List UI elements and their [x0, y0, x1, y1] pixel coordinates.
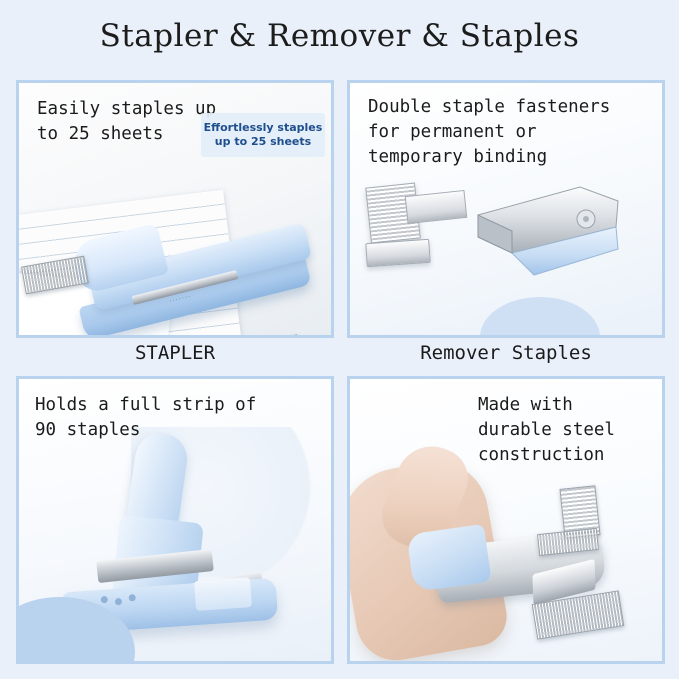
- stapler-anvil: [194, 577, 252, 611]
- panel-strip-text: Holds a full strip of 90 staples: [35, 393, 256, 443]
- panel-stapler: ······· Effortlessly staples up to 25 sh…: [16, 80, 334, 338]
- staple-remover-grip: [406, 524, 491, 592]
- caption-remover-staples: Remover Staples: [347, 342, 665, 364]
- panel-remover-text: Double staple fasteners for permanent or…: [368, 95, 610, 170]
- staple-remover-svg: [468, 179, 640, 277]
- panel-stapler-text: Easily staples up to 25 sheets: [37, 97, 216, 147]
- stapler-base-dots: [101, 594, 142, 611]
- page-title: Stapler & Remover & Staples: [0, 18, 679, 54]
- badge-effortlessly-staples: Effortlessly staples up to 25 sheets: [201, 113, 325, 157]
- panel-steel-text: Made with durable steel construction: [478, 393, 615, 468]
- product-infographic: Stapler & Remover & Staples ······· Effo…: [0, 0, 679, 679]
- staple-strip-bar: [365, 239, 431, 267]
- panel-remover: Double staple fasteners for permanent or…: [347, 80, 665, 338]
- panel-steel-construction: Made with durable steel construction: [347, 376, 665, 664]
- staple-remover-tool: [468, 179, 640, 277]
- panel-staple-strip: Holds a full strip of 90 staples: [16, 376, 334, 664]
- caption-stapler: STAPLER: [16, 342, 334, 364]
